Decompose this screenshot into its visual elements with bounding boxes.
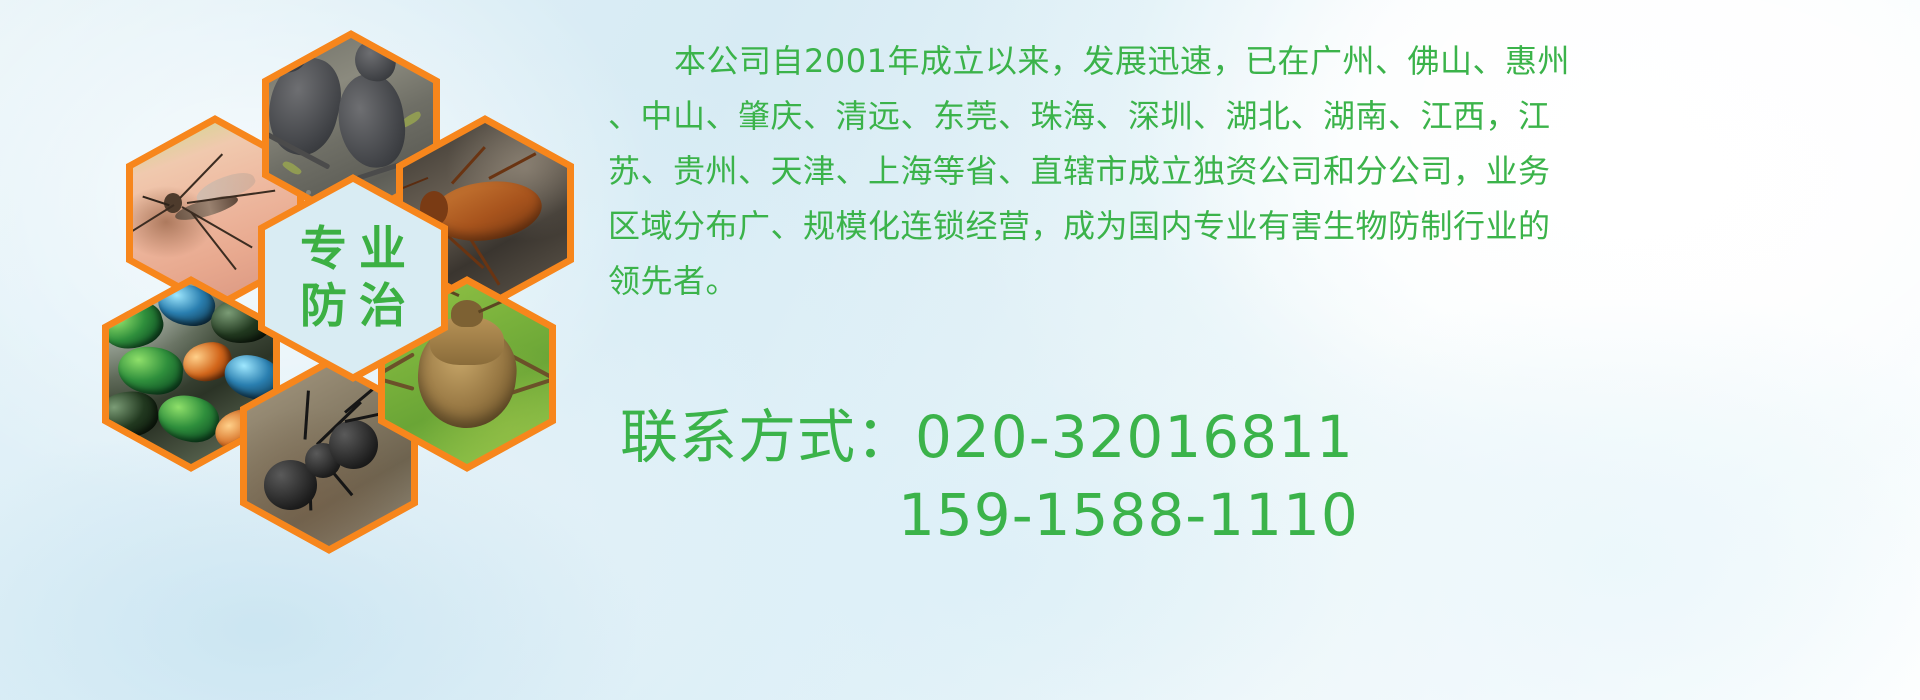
description-line: 苏、贵州、天津、上海等省、直辖市成立独资公司和分公司，业务 bbox=[608, 144, 1900, 199]
pest-control-banner: 专业 防治 本公司自2001年成立以来，发展迅速，已在广州、佛山、惠州 、中山、… bbox=[0, 0, 1920, 700]
description-line: 本公司自2001年成立以来，发展迅速，已在广州、佛山、惠州 bbox=[608, 34, 1900, 89]
contact-block: 联系方式：020-32016811 159-1588-1110 bbox=[620, 398, 1920, 554]
company-description: 本公司自2001年成立以来，发展迅速，已在广州、佛山、惠州 、中山、肇庆、清远、… bbox=[608, 34, 1900, 309]
badge-line-1: 专业 bbox=[288, 221, 418, 278]
badge-line-2: 防治 bbox=[288, 278, 418, 335]
hexagon-photo-collage: 专业 防治 bbox=[96, 10, 596, 570]
description-line: 区域分布广、规模化连锁经营，成为国内专业有害生物防制行业的 bbox=[608, 199, 1900, 254]
contact-phone-mobile[interactable]: 159-1588-1110 bbox=[620, 476, 1920, 554]
contact-phone-landline[interactable]: 联系方式：020-32016811 bbox=[620, 398, 1920, 476]
description-line: 、中山、肇庆、清远、东莞、珠海、深圳、湖北、湖南、江西，江 bbox=[608, 89, 1900, 144]
description-line: 领先者。 bbox=[608, 254, 1900, 309]
